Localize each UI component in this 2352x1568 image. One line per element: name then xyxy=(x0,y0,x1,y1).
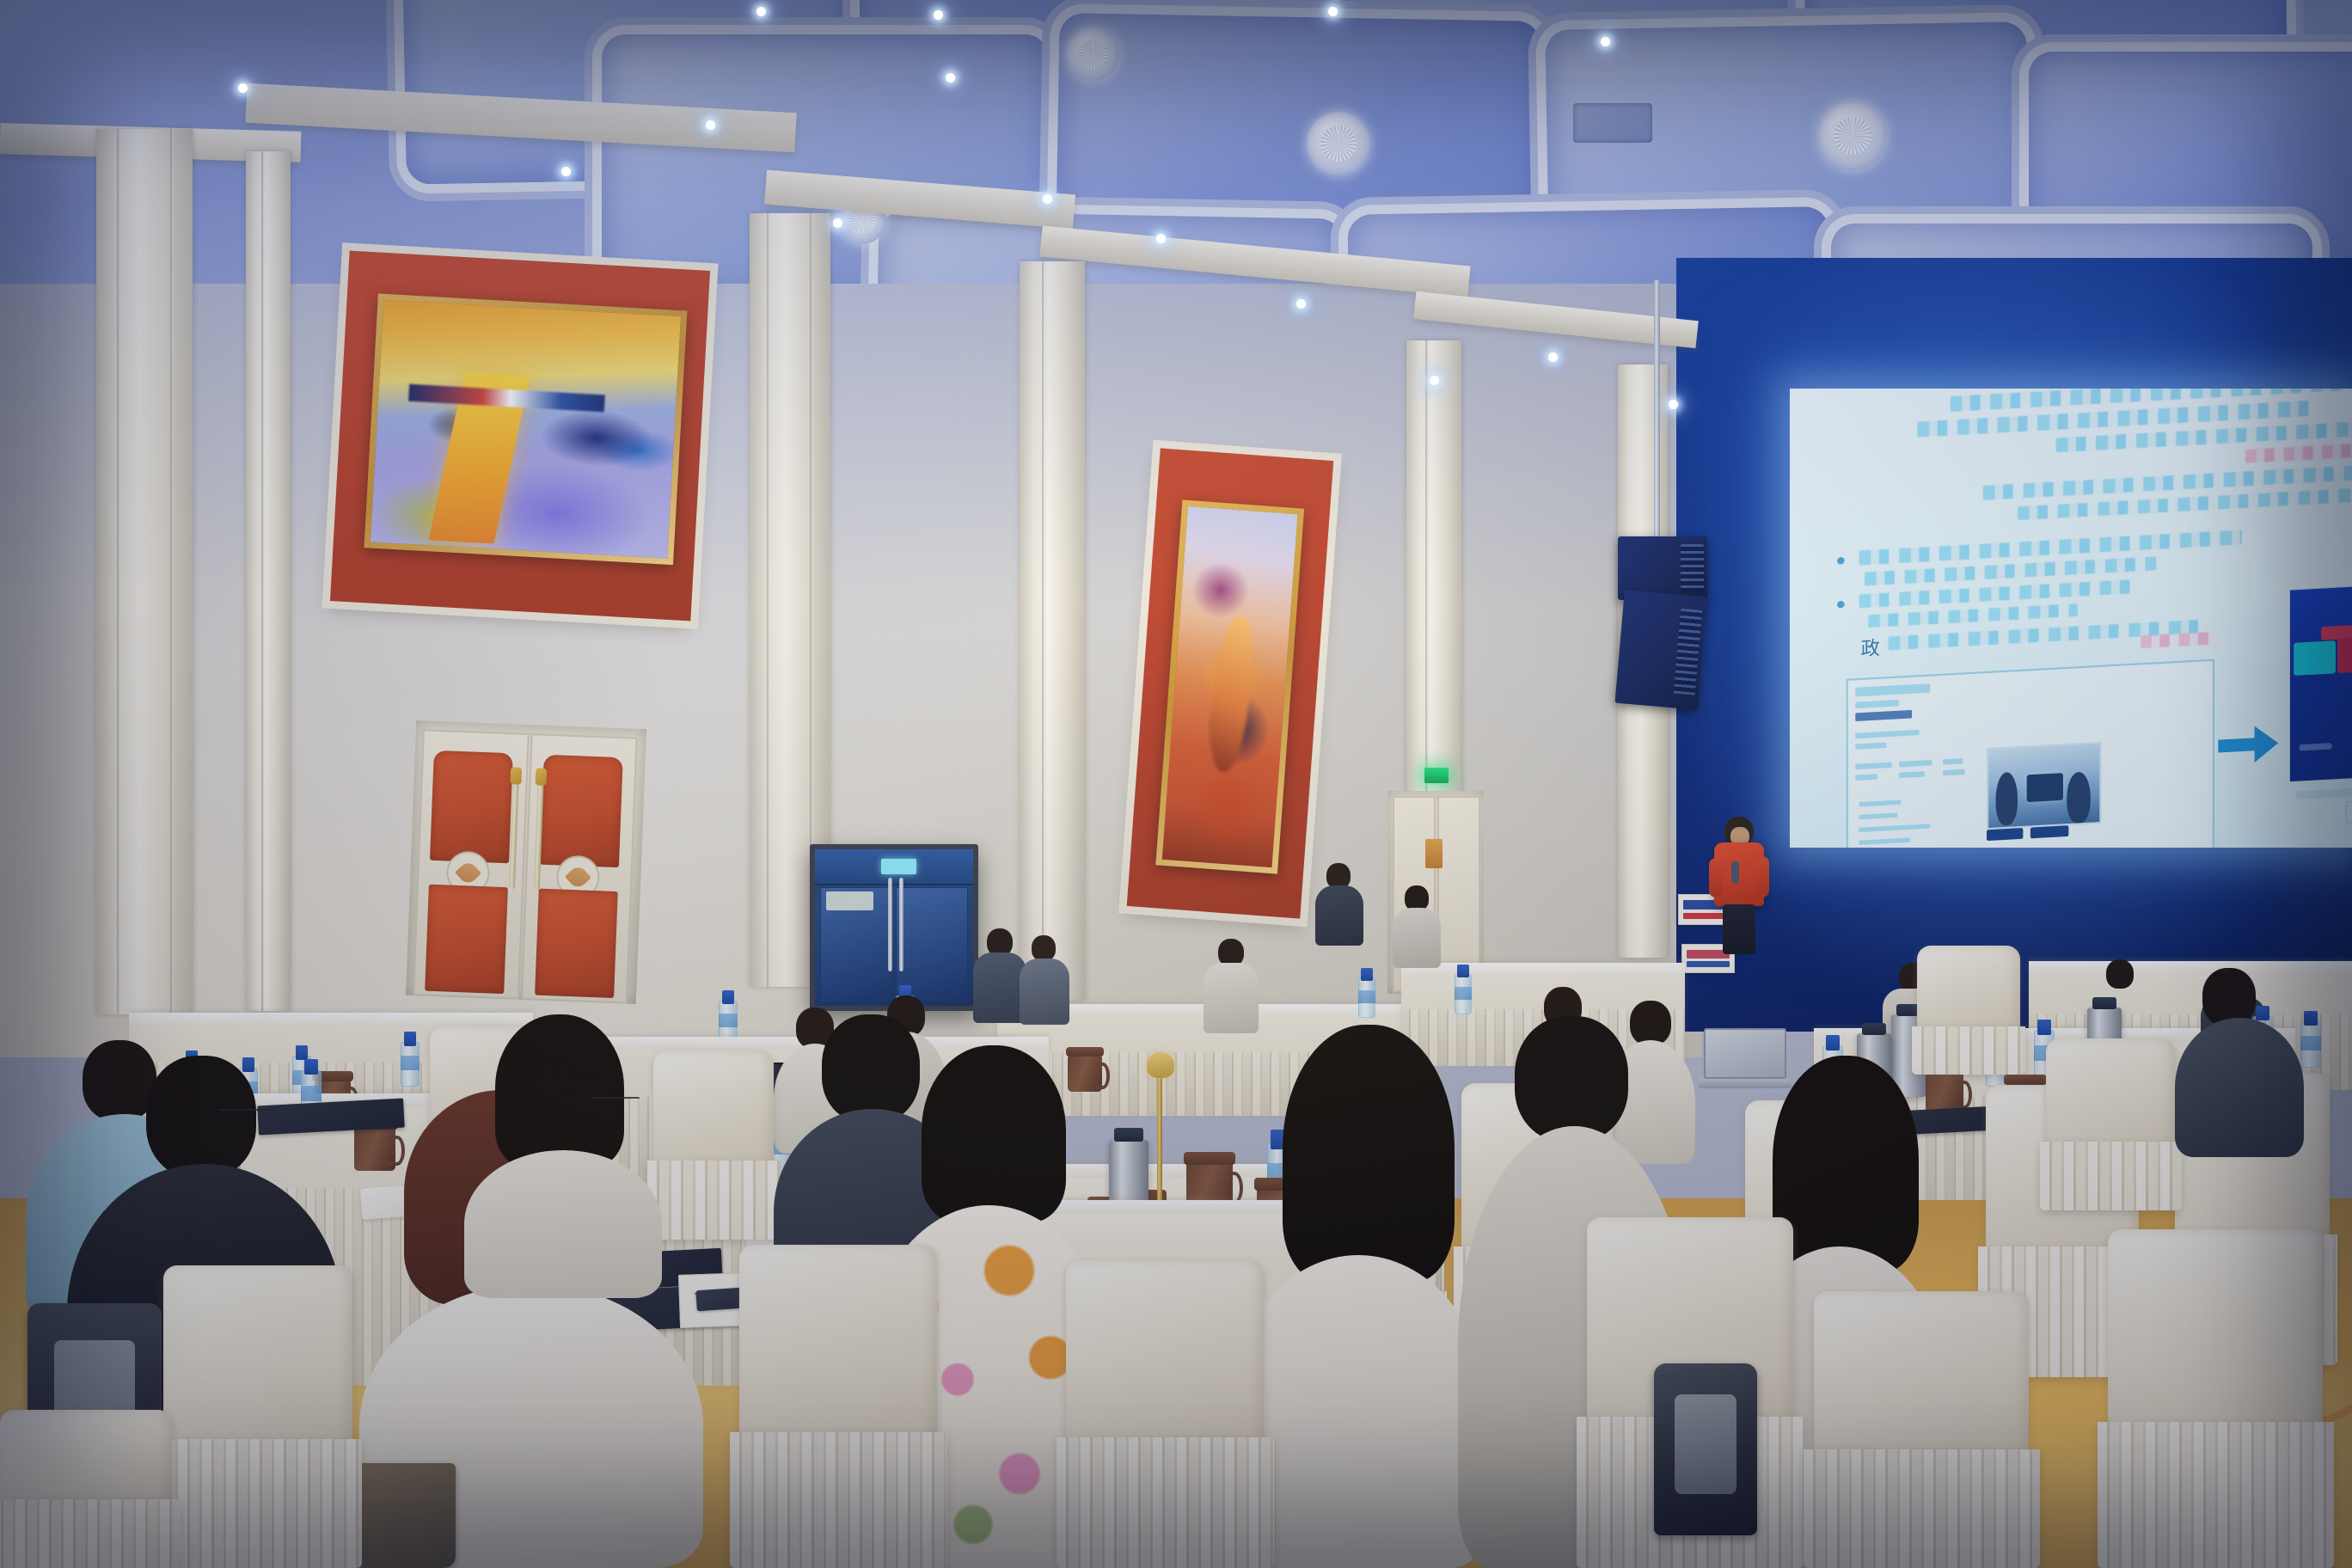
ceiling-rosette xyxy=(1066,28,1119,81)
table-lamp-stem xyxy=(1157,1075,1162,1169)
app-badge-cyan xyxy=(2294,640,2336,676)
recessed-downlight xyxy=(1601,37,1610,46)
conference-hall-photo: 政 xyxy=(0,0,2352,1568)
backpack xyxy=(1654,1363,1757,1535)
recessed-downlight xyxy=(833,218,842,228)
chair xyxy=(739,1245,937,1568)
slide-thumb-button-2 xyxy=(2030,825,2069,838)
beverage-cabinet[interactable] xyxy=(810,844,978,1011)
recessed-downlight xyxy=(756,7,766,16)
slide-bullet-1 xyxy=(1837,557,1844,565)
door-gold-trim xyxy=(1425,839,1442,868)
recessed-downlight xyxy=(1043,194,1052,204)
recessed-downlight xyxy=(1156,234,1166,243)
ceiling-rosette xyxy=(1818,101,1887,170)
chair xyxy=(0,1410,172,1568)
projection-screen: 政 xyxy=(1790,389,2352,848)
water-bottle xyxy=(1455,965,1472,1014)
chair xyxy=(163,1265,352,1568)
recessed-downlight xyxy=(1296,299,1306,309)
blue-arrow-icon xyxy=(2218,725,2278,764)
speaker-suspension-pole xyxy=(1654,280,1660,548)
recessed-downlight xyxy=(561,167,571,176)
table-lamp xyxy=(1147,1052,1174,1078)
slide-photo-thumbnail xyxy=(1987,742,2102,830)
recessed-downlight xyxy=(946,73,955,83)
recessed-downlight xyxy=(1328,7,1338,16)
art-panel-red-vertical xyxy=(1127,448,1334,918)
chair xyxy=(2108,1229,2323,1568)
water-bottle xyxy=(1358,968,1375,1018)
attendee xyxy=(1315,863,1363,946)
recessed-downlight xyxy=(238,83,248,93)
attendee xyxy=(973,928,1026,1023)
eyeglasses xyxy=(218,1109,275,1115)
recessed-downlight xyxy=(1669,400,1678,409)
slide-cjk-mark: 政 xyxy=(1861,634,1880,662)
attendee xyxy=(1393,885,1441,968)
cabinet-label xyxy=(826,891,873,910)
water-bottle xyxy=(719,990,738,1044)
slide-bullet-2 xyxy=(1837,601,1844,609)
painting-abstract-vertical xyxy=(1155,499,1304,873)
ceiling-air-vent xyxy=(1573,103,1652,143)
app-banner-red xyxy=(2337,633,2352,673)
ballroom-double-door[interactable] xyxy=(406,720,646,1004)
water-bottle xyxy=(401,1032,420,1087)
line-array-speaker xyxy=(1614,590,1706,710)
recessed-downlight xyxy=(1430,376,1439,385)
microphone xyxy=(1731,861,1739,884)
chair xyxy=(1814,1291,2029,1568)
recessed-downlight xyxy=(934,10,943,20)
wall-pilaster xyxy=(96,129,193,1014)
slide-thumb-button-1 xyxy=(1987,828,2023,841)
recessed-downlight xyxy=(1548,352,1558,362)
recessed-downlight xyxy=(706,120,715,130)
slide-screenshot-card xyxy=(1847,659,2214,848)
chair xyxy=(2046,1038,2175,1210)
presenter xyxy=(1707,817,1773,954)
wall-pilaster xyxy=(1020,261,1085,1001)
cabinet-display-panel xyxy=(881,859,916,874)
art-panel-red xyxy=(330,251,710,622)
attendee xyxy=(1204,939,1259,1033)
ceiling-rosette xyxy=(1307,112,1370,175)
attendee xyxy=(1020,935,1069,1025)
painting-abstract-landscape xyxy=(364,294,687,566)
eyeglasses xyxy=(591,1097,640,1103)
wall-pilaster xyxy=(246,151,291,1011)
cabinet-handle-left[interactable] xyxy=(888,878,892,971)
presenter-arm-right xyxy=(1755,856,1769,897)
attendee xyxy=(464,1014,662,1298)
slide-app-screenshot xyxy=(2289,581,2352,782)
chair xyxy=(1066,1260,1264,1568)
attendee xyxy=(2175,968,2304,1157)
exit-sign xyxy=(1424,768,1449,783)
presenter-arm-left xyxy=(1709,858,1723,897)
cabinet-handle-right[interactable] xyxy=(899,878,903,971)
